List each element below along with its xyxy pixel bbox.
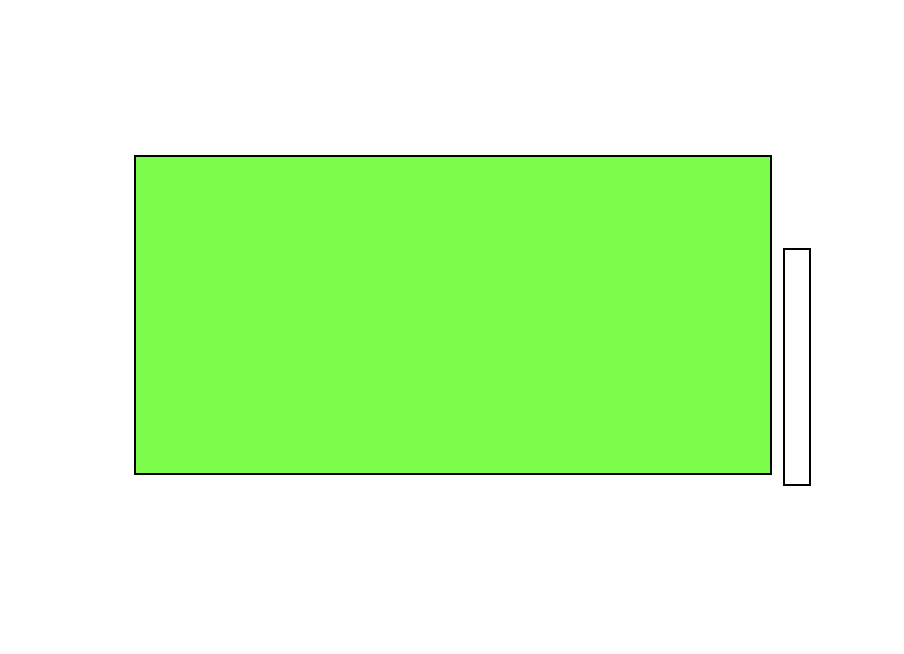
- contour-field-canvas: [136, 157, 770, 473]
- colorbar-bands: [783, 248, 811, 486]
- colorbar: [783, 222, 813, 520]
- contour-plot-area: [134, 155, 772, 475]
